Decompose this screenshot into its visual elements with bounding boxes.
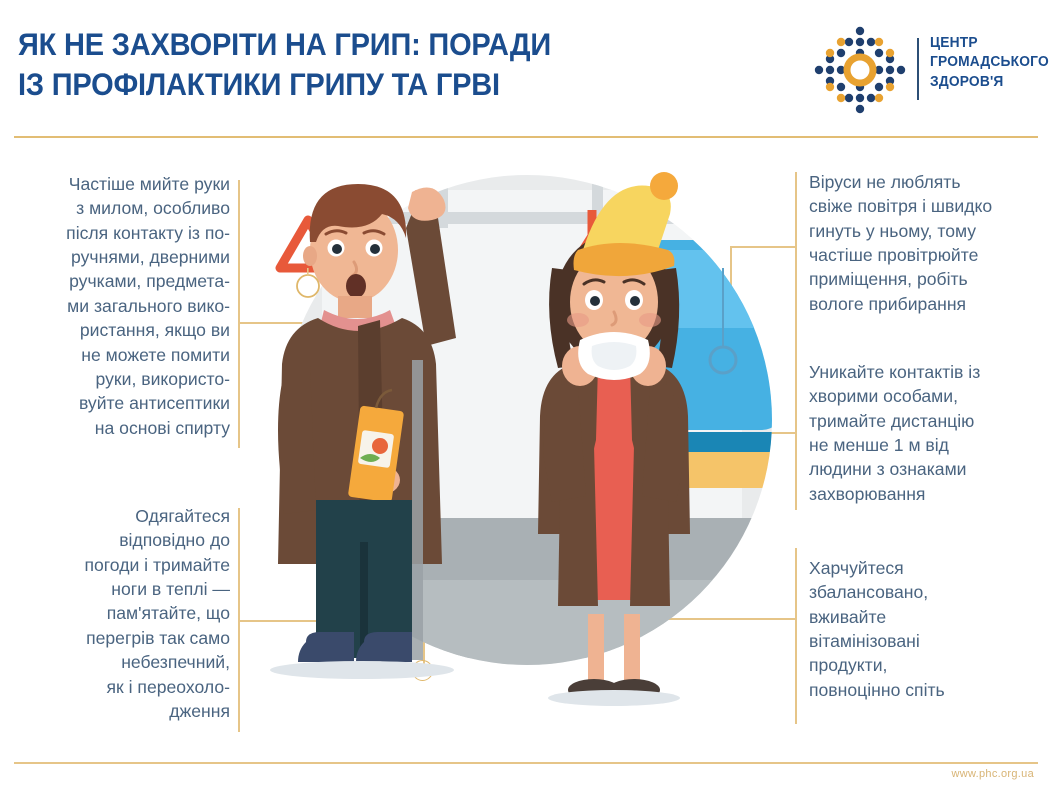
handrail-pole [412,360,423,660]
illustration-transit-scene [262,150,792,750]
connector-left-vertical-top [238,180,240,448]
header-divider [14,136,1038,138]
tip-wash-hands: Частіше мийте руки з милом, особливо піс… [10,172,230,440]
tip-eat-well: Харчуйтеся збалансовано, вживайте вітамі… [809,556,1045,702]
tip-dress-warm: Одягайтеся відповідно до погоди і тримай… [10,504,230,723]
infographic-page: ЯК НЕ ЗАХВОРІТИ НА ГРИП: ПОРАДИ ІЗ ПРОФІ… [0,0,1050,787]
page-title: ЯК НЕ ЗАХВОРІТИ НА ГРИП: ПОРАДИ ІЗ ПРОФІ… [18,24,726,105]
connector-right-vertical-top [795,172,797,510]
tip-ventilate: Віруси не люблять свіже повітря і швидко… [809,170,1045,316]
footer-url[interactable]: www.phc.org.ua [952,768,1034,780]
logo-divider [917,38,919,100]
scene-ring-left [297,275,319,297]
logo-text: ЦЕНТР ГРОМАДСЬКОГО ЗДОРОВ'Я [930,34,1035,92]
tip-keep-distance: Уникайте контактів із хворими особами, т… [809,360,1045,506]
logo: ЦЕНТР ГРОМАДСЬКОГО ЗДОРОВ'Я [812,22,1038,117]
connector-right-vertical-bottom [795,548,797,724]
footer-divider [14,762,1038,764]
header: ЯК НЕ ЗАХВОРІТИ НА ГРИП: ПОРАДИ ІЗ ПРОФІ… [0,0,1050,137]
logo-mark-icon [812,24,908,116]
tissue [578,332,650,380]
